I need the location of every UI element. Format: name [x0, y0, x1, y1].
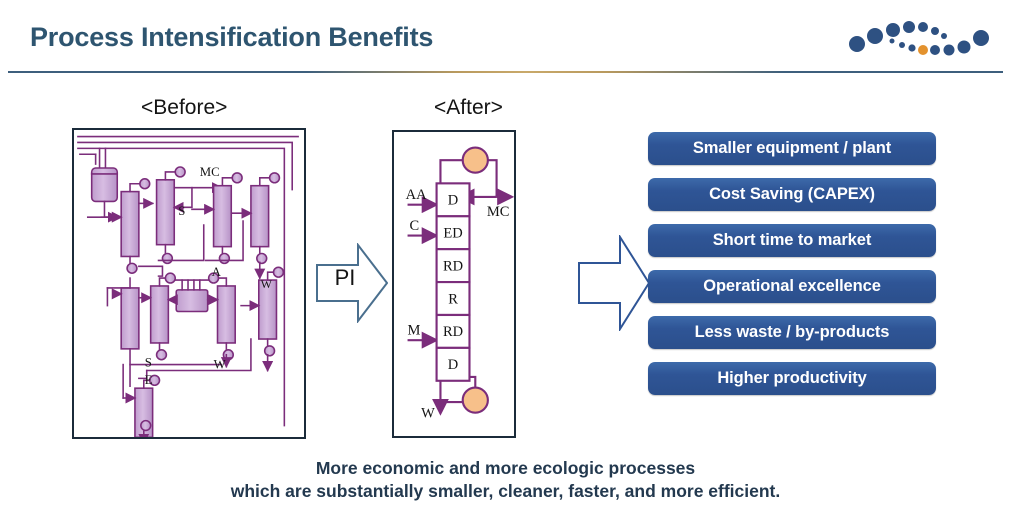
after-feed-label-m: M: [408, 322, 421, 338]
after-product-label-mc: MC: [487, 204, 510, 220]
footer-caption-line-2: which are substantially smaller, cleaner…: [0, 480, 1011, 503]
before-label-a: A: [212, 265, 222, 279]
before-label-s1: S: [178, 204, 185, 218]
benefit-item-time-to-market[interactable]: Short time to market: [648, 224, 936, 257]
after-section-label-1: D: [448, 193, 458, 209]
footer-caption: More economic and more ecologic processe…: [0, 457, 1011, 504]
before-panel-caption: <Before>: [141, 96, 227, 120]
before-label-w1: W: [261, 277, 273, 291]
page-title: Process Intensification Benefits: [30, 22, 433, 53]
after-section-label-3: RD: [443, 258, 463, 274]
after-panel-caption: <After>: [434, 96, 503, 120]
company-swirl-logo: [845, 14, 1000, 66]
after-feed-label-aa: AA: [406, 187, 427, 203]
condenser-drum: [463, 148, 488, 173]
after-feed-label-c: C: [409, 218, 419, 234]
benefit-item-less-waste[interactable]: Less waste / by-products: [648, 316, 936, 349]
before-label-mc: MC: [200, 165, 220, 179]
after-process-flow-diagram: D ED RD R RD D AA C M MC W: [392, 130, 516, 438]
header-divider-rule: [8, 71, 1003, 73]
before-label-w2: W: [214, 358, 227, 372]
before-process-flow-diagram: MC S A W S E W: [72, 128, 306, 439]
benefit-item-smaller-equipment[interactable]: Smaller equipment / plant: [648, 132, 936, 165]
after-section-label-5: RD: [443, 324, 463, 340]
benefits-list: Smaller equipment / plant Cost Saving (C…: [648, 132, 936, 395]
before-label-s2: S: [145, 356, 152, 370]
benefit-item-cost-saving[interactable]: Cost Saving (CAPEX): [648, 178, 936, 211]
after-section-label-2: ED: [443, 226, 462, 242]
pi-arrow-label: PI: [316, 265, 374, 291]
slide-canvas: Process Intensification Benefits: [0, 0, 1011, 518]
benefit-item-higher-productivity[interactable]: Higher productivity: [648, 362, 936, 395]
benefit-item-operational-excellence[interactable]: Operational excellence: [648, 270, 936, 303]
footer-caption-line-1: More economic and more ecologic processe…: [0, 457, 1011, 480]
after-section-label-6: D: [448, 357, 458, 373]
before-label-e: E: [145, 373, 153, 387]
results-flow-arrow: [578, 235, 650, 331]
after-section-label-4: R: [448, 291, 458, 307]
after-product-label-w: W: [421, 406, 435, 422]
reboiler-drum: [463, 388, 488, 413]
